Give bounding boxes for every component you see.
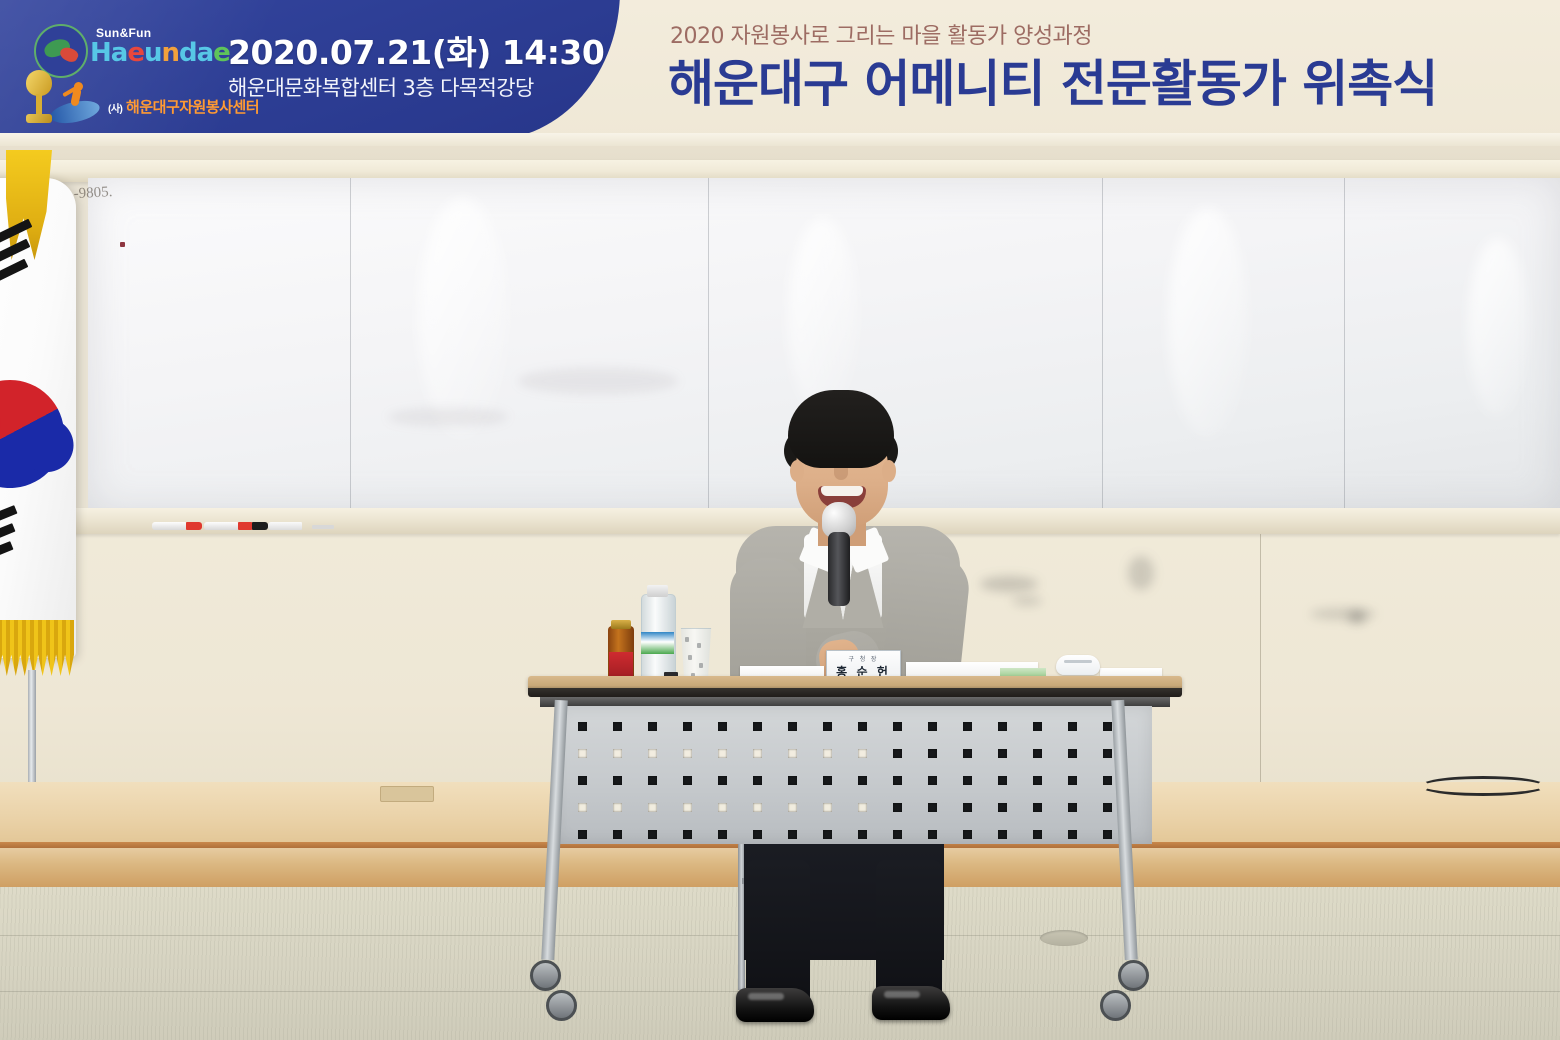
panel-perforation — [1103, 803, 1112, 812]
flag-fringe — [0, 620, 74, 676]
panel-perforation — [613, 776, 622, 785]
panel-perforation — [963, 830, 972, 839]
panel-perforation — [788, 749, 797, 758]
panel-perforation — [823, 830, 832, 839]
tray-eraser — [312, 525, 334, 529]
water-bottle-label — [641, 632, 674, 654]
panel-perforation — [1068, 830, 1077, 839]
face-mask-fold — [1064, 660, 1092, 663]
floor-cable — [1420, 776, 1546, 796]
panel-perforation — [893, 830, 902, 839]
panel-perforation — [998, 776, 1007, 785]
panel-perforation — [683, 749, 692, 758]
panel-perforation — [858, 722, 867, 731]
panel-perforation — [858, 776, 867, 785]
panel-perforation — [823, 722, 832, 731]
panel-perforation — [613, 803, 622, 812]
ear-right — [882, 460, 896, 482]
panel-perforation — [1103, 749, 1112, 758]
panel-perforation — [823, 803, 832, 812]
panel-perforation — [718, 803, 727, 812]
panel-perforation — [683, 776, 692, 785]
caster-right-front — [1118, 960, 1149, 991]
panel-perforation — [1068, 722, 1077, 731]
panel-perforation — [788, 722, 797, 731]
banner-date-time: 2020.07.21(화) 14:30 — [228, 26, 604, 74]
banner-bottom-edge — [0, 133, 1560, 146]
korean-flag — [0, 150, 112, 790]
panel-perforation — [753, 830, 762, 839]
panel-perforation — [1068, 749, 1077, 758]
panel-perforation — [718, 830, 727, 839]
panel-perforation — [788, 803, 797, 812]
panel-perforation — [648, 776, 657, 785]
panel-perforation — [823, 776, 832, 785]
panel-perforation — [1103, 722, 1112, 731]
panel-perforation — [753, 803, 762, 812]
panel-perforation — [683, 830, 692, 839]
panel-perforation — [1033, 722, 1042, 731]
panel-perforation — [1103, 830, 1112, 839]
panel-perforation — [1033, 830, 1042, 839]
panel-perforation — [613, 722, 622, 731]
panel-perforation — [858, 830, 867, 839]
juice-bottle-cap — [611, 620, 631, 629]
volunteer-center-figure-icon — [50, 82, 102, 124]
juice-bottle-label — [609, 652, 633, 676]
panel-perforation — [578, 749, 587, 758]
panel-perforation — [788, 830, 797, 839]
event-banner: Sun&Fun Haeundae (사) 해운대구자원봉사센터 2020.07.… — [0, 0, 1560, 146]
wall-scuff-2 — [1012, 596, 1042, 606]
panel-perforation — [718, 722, 727, 731]
panel-perforation — [928, 722, 937, 731]
panel-perforation — [998, 830, 1007, 839]
panel-perforation — [683, 722, 692, 731]
panel-perforation — [648, 803, 657, 812]
haeundae-wordmark: Haeundae — [90, 38, 230, 68]
marker-red-1 — [152, 522, 202, 530]
panel-perforation — [1068, 803, 1077, 812]
caster-left-front — [530, 960, 561, 991]
panel-perforation — [1103, 776, 1112, 785]
hair — [788, 390, 894, 468]
panel-perforation — [1068, 776, 1077, 785]
panel-perforation — [718, 776, 727, 785]
wall-scuff-4 — [1310, 608, 1376, 620]
caster-left-back — [546, 990, 577, 1021]
panel-perforation — [893, 803, 902, 812]
panel-perforation — [753, 722, 762, 731]
panel-perforation — [893, 776, 902, 785]
panel-perforation — [788, 776, 797, 785]
panel-perforation — [683, 803, 692, 812]
panel-perforation — [753, 776, 762, 785]
wall-panel-seam — [1260, 534, 1261, 782]
panel-perforation — [1033, 803, 1042, 812]
banner-main-title: 해운대구 어메니티 전문활동가 위촉식 — [668, 44, 1437, 116]
panel-perforation — [893, 722, 902, 731]
floor-outlet-cover — [1040, 930, 1088, 946]
panel-perforation — [578, 830, 587, 839]
marker-red-2 — [204, 522, 254, 530]
ear-left — [790, 460, 804, 482]
panel-perforation — [648, 749, 657, 758]
panel-perforation — [858, 749, 867, 758]
panel-perforation — [928, 803, 937, 812]
face-mask — [1056, 655, 1100, 675]
panel-perforation — [1033, 776, 1042, 785]
shoe-left — [736, 988, 814, 1022]
panel-perforation — [1033, 749, 1042, 758]
panel-perforation — [753, 749, 762, 758]
caster-right-back — [1100, 990, 1131, 1021]
panel-perforation — [998, 722, 1007, 731]
panel-perforation — [613, 749, 622, 758]
panel-perforation — [928, 749, 937, 758]
panel-perforation — [613, 830, 622, 839]
panel-perforation — [963, 722, 972, 731]
panel-perforation — [648, 830, 657, 839]
table-modesty-panel — [556, 706, 1152, 844]
panel-perforation — [858, 803, 867, 812]
panel-perforation — [578, 776, 587, 785]
panel-perforation — [893, 749, 902, 758]
water-bottle-cap — [647, 585, 668, 597]
photo-scene: Sun&Fun Haeundae (사) 해운대구자원봉사센터 2020.07.… — [0, 0, 1560, 1040]
panel-perforation — [963, 749, 972, 758]
panel-perforation — [928, 830, 937, 839]
banner-venue: 해운대문화복합센터 3층 다목적강당 — [228, 72, 534, 102]
marker-black — [252, 522, 302, 530]
panel-perforation — [998, 803, 1007, 812]
panel-perforation — [578, 722, 587, 731]
panel-perforation — [998, 749, 1007, 758]
wall-scuff-3 — [1128, 556, 1154, 590]
panel-perforation — [578, 803, 587, 812]
panel-perforation — [648, 722, 657, 731]
panel-perforation — [823, 749, 832, 758]
shoe-right — [872, 986, 950, 1020]
panel-perforation — [718, 749, 727, 758]
placard-title: 구 청 장 — [827, 654, 900, 663]
floor-access-plate — [380, 786, 434, 802]
microphone-handle — [828, 532, 850, 606]
wall-scuff-5 — [1348, 610, 1366, 624]
trophy-icon — [22, 70, 56, 140]
panel-perforation — [963, 776, 972, 785]
panel-perforation — [963, 803, 972, 812]
panel-perforation — [928, 776, 937, 785]
table-top-edge — [528, 688, 1182, 697]
